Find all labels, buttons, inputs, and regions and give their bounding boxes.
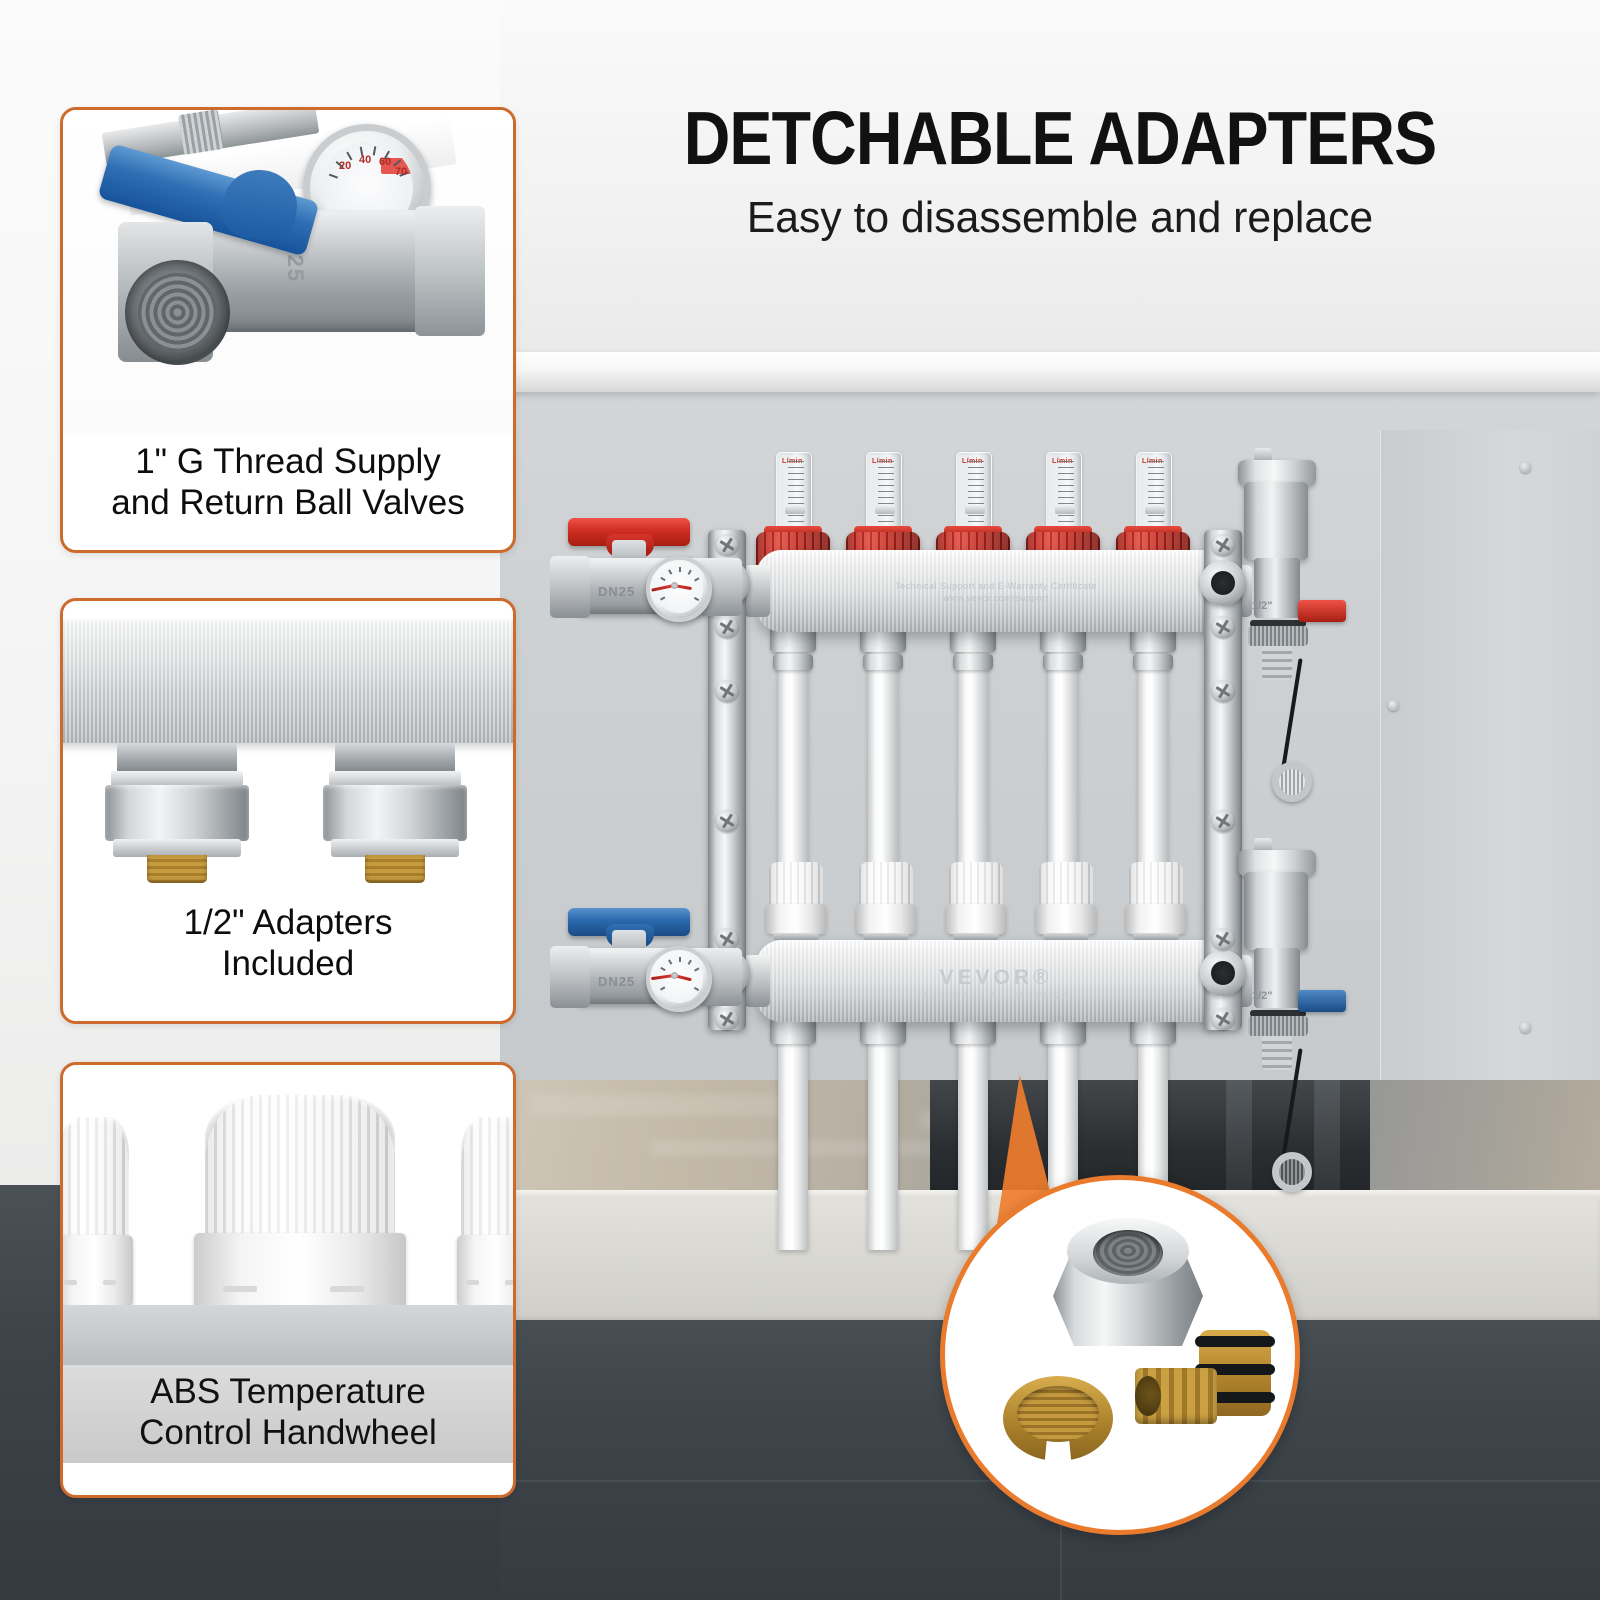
compression-ring [1133,654,1173,670]
wall-screw-icon [1520,1022,1531,1033]
valve-marking: DN25 [598,584,635,599]
panel-caption-line1: ABS Temperature [69,1371,507,1412]
drain-valve-handle-upper[interactable] [1298,600,1346,622]
right-wall-panel [1380,430,1600,1130]
supply-ball-valve[interactable]: DN25 [550,518,740,628]
vent-knurled-collar [1248,626,1308,646]
nut-thread-bore [1093,1230,1163,1276]
gauge-number: 40 [359,154,371,166]
brass-insert [365,855,425,883]
brass-barbed-insert [1135,1330,1275,1450]
manifold-assembly: L/min L/min L/min L/min [520,430,1400,1220]
compression-ring [1043,654,1083,670]
bracket-screw-icon [1212,534,1234,556]
g-thread-opening [125,260,230,365]
panel-photo-ball-valve: 20 40 60 70 DN25 [63,110,513,435]
gauge-pin [671,582,678,589]
gauge-face [655,955,703,1003]
gauge-pin [671,972,678,979]
vent-marking: 1/2" [1252,600,1273,612]
supply-manifold-bar: Technical Support and E-Warranty Certifi… [756,550,1236,632]
air-vent-upper: 1/2" [1236,448,1322,698]
pipe-ring [178,110,224,155]
manifold-bar-closeup [63,621,513,743]
manifold-plate [63,1305,513,1365]
hose-clamp-icon [1272,762,1312,802]
bracket-screw-icon [716,680,738,702]
panel-photo-handwheel [63,1065,513,1365]
outlet-pipe [958,1040,988,1250]
vent-hose-barb [1262,1036,1292,1070]
brand-name: VEVOR® [756,966,1236,990]
handwheel[interactable] [1126,862,1186,936]
vent-body [1244,482,1308,560]
handwheel-main[interactable] [205,1095,395,1317]
handwheel-partial-right[interactable] [461,1117,513,1307]
handwheel-partial-left[interactable] [63,1117,129,1307]
return-ball-valve[interactable]: DN25 [550,908,740,1018]
bracket-screw-icon [1212,810,1234,832]
brass-split-ring [1003,1376,1113,1461]
supply-thermometer-gauge [646,556,712,622]
gauge-number: 70 [395,166,407,178]
vent-body [1244,872,1308,950]
bracket-screw-icon [1212,928,1234,950]
brand-logo: VEVOR® TOUGH TOOLS, HALF PRICE [756,966,1236,1000]
panel-photo-adapters [63,601,513,896]
flow-meter-scale [788,461,804,533]
brass-insert [147,855,207,883]
page-subtitle: Easy to disassemble and replace [624,192,1497,244]
return-thermometer-gauge [646,946,712,1012]
page-title: DETCHABLE ADAPTERS [673,98,1447,178]
outlet-pipe [778,1040,808,1250]
air-vent-lower: 1/2" [1236,838,1322,1088]
return-manifold-bar: VEVOR® TOUGH TOOLS, HALF PRICE [756,940,1236,1022]
handwheel[interactable] [766,862,826,936]
drain-valve-handle-lower[interactable] [1298,990,1346,1012]
bracket-screw-icon [1212,1008,1234,1030]
vent-marking: 1/2" [1252,990,1273,1002]
panel-caption-line1: 1/2" Adapters [69,902,507,943]
bracket-screw-icon [1212,616,1234,638]
panel-caption: 1/2" Adapters Included [63,896,513,994]
feature-panel-ball-valves: 20 40 60 70 DN25 1" G Thread Supply and … [60,107,516,553]
bracket-screw-icon [1212,680,1234,702]
adapter-assembly [101,743,253,869]
adapter-detail-callout [940,1175,1300,1535]
panel-caption-line2: and Return Ball Valves [69,482,507,523]
product-feature-image: DETCHABLE ADAPTERS Easy to disassemble a… [0,0,1600,1600]
outlet-pipe [868,1040,898,1250]
flow-meter-float [785,505,805,514]
valve-inlet-nut [550,946,590,1008]
valve-inlet-nut [550,556,590,618]
engraved-support-line2: www.vevor.com/support [756,592,1236,604]
compression-ring [773,654,813,670]
panel-caption-line1: 1" G Thread Supply [69,441,507,482]
compression-ring [863,654,903,670]
panel-caption-line2: Included [69,943,507,984]
compression-ring [953,654,993,670]
panel-caption-line2: Control Handwheel [69,1412,507,1453]
header-block: DETCHABLE ADAPTERS Easy to disassemble a… [610,98,1510,244]
vent-hose-barb [1262,646,1292,680]
handwheel[interactable] [856,862,916,936]
engraved-support-line1: Technical Support and E-Warranty Certifi… [756,580,1236,592]
hose-clamp-icon [1272,1152,1312,1192]
gauge-number: 60 [379,156,391,168]
gauge-number: 20 [339,160,351,172]
handwheel[interactable] [946,862,1006,936]
panel-caption: ABS Temperature Control Handwheel [63,1365,513,1463]
panel-caption: 1" G Thread Supply and Return Ball Valve… [63,435,513,533]
feature-panel-adapters: 1/2" Adapters Included [60,598,516,1024]
valve-outlet-nut [415,206,485,336]
counter-edge [470,352,1600,392]
brand-tagline: TOUGH TOOLS, HALF PRICE [756,991,1236,1000]
wall-screw-icon [1520,462,1531,473]
feature-panel-handwheel: ABS Temperature Control Handwheel [60,1062,516,1498]
handwheel[interactable] [1036,862,1096,936]
adapter-assembly [319,743,471,869]
valve-marking: DN25 [598,974,635,989]
bracket-screw-icon [716,810,738,832]
vent-knurled-collar [1248,1016,1308,1036]
